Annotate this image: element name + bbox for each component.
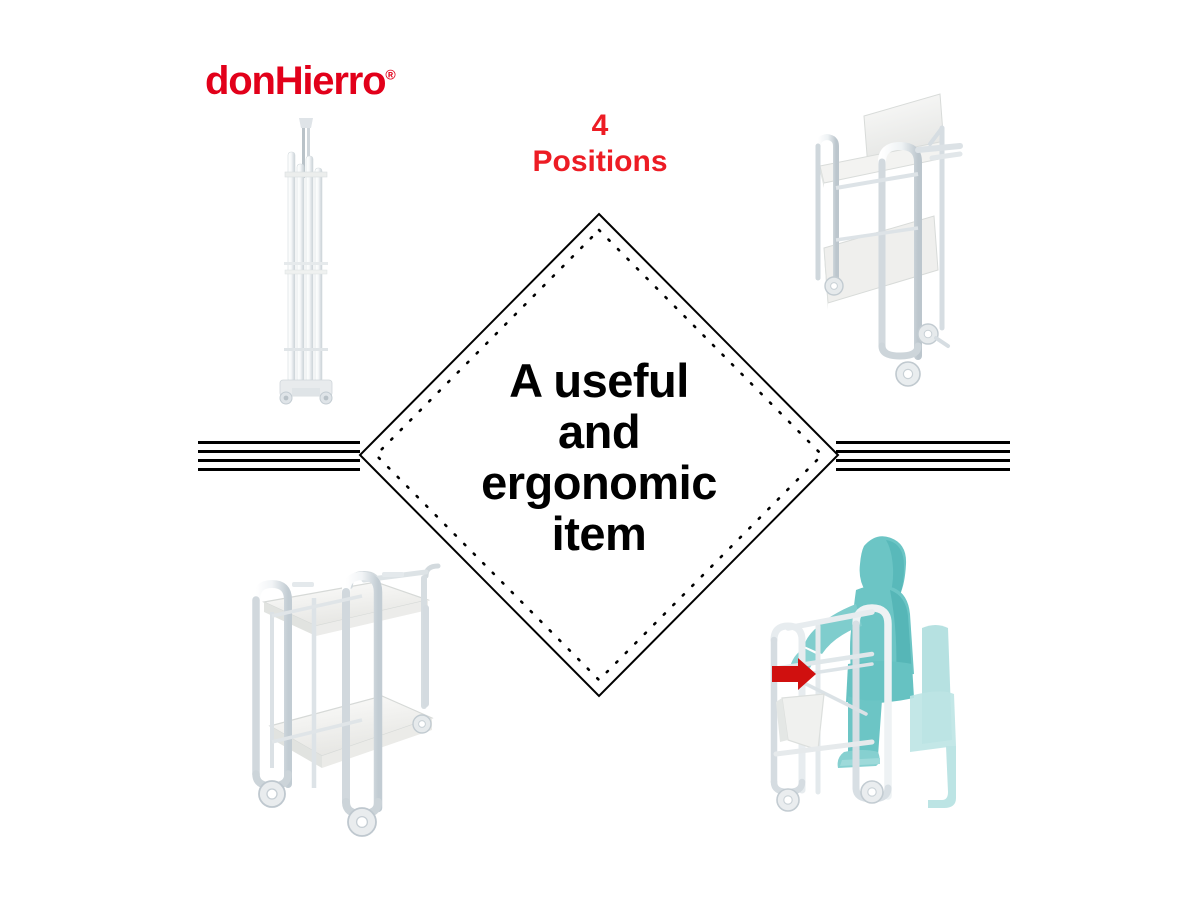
decor-line (836, 450, 1010, 453)
decor-line (198, 468, 360, 471)
callout-line-3: ergonomic (424, 457, 774, 508)
chair-silhouette (910, 625, 956, 808)
decor-line (198, 441, 360, 444)
photo-trolley-in-use (760, 528, 976, 828)
photo-folded-trolley (258, 112, 354, 412)
brand-logo-text: donHierro (205, 59, 385, 103)
decor-lines-right (836, 441, 1010, 473)
slide-canvas: donHierro® 4 Positions A useful and ergo… (0, 0, 1196, 897)
photo-open-trolley (236, 556, 444, 856)
decor-line (198, 459, 360, 462)
positions-heading-line1: 4 (455, 108, 745, 144)
brand-logo: donHierro® (205, 61, 396, 101)
photo-semi-unfolded-trolley (792, 88, 992, 398)
positions-heading: 4 Positions (455, 108, 745, 180)
callout-line-4: item (424, 508, 774, 559)
positions-heading-line2: Positions (455, 144, 745, 180)
decor-lines-left (198, 441, 360, 473)
decor-line (836, 468, 1010, 471)
decor-line (836, 459, 1010, 462)
registered-trademark-icon: ® (385, 67, 395, 83)
callout-line-1: A useful (424, 355, 774, 406)
decor-line (836, 441, 1010, 444)
decor-line (198, 450, 360, 453)
center-callout-text: A useful and ergonomic item (424, 355, 774, 559)
callout-line-2: and (424, 406, 774, 457)
